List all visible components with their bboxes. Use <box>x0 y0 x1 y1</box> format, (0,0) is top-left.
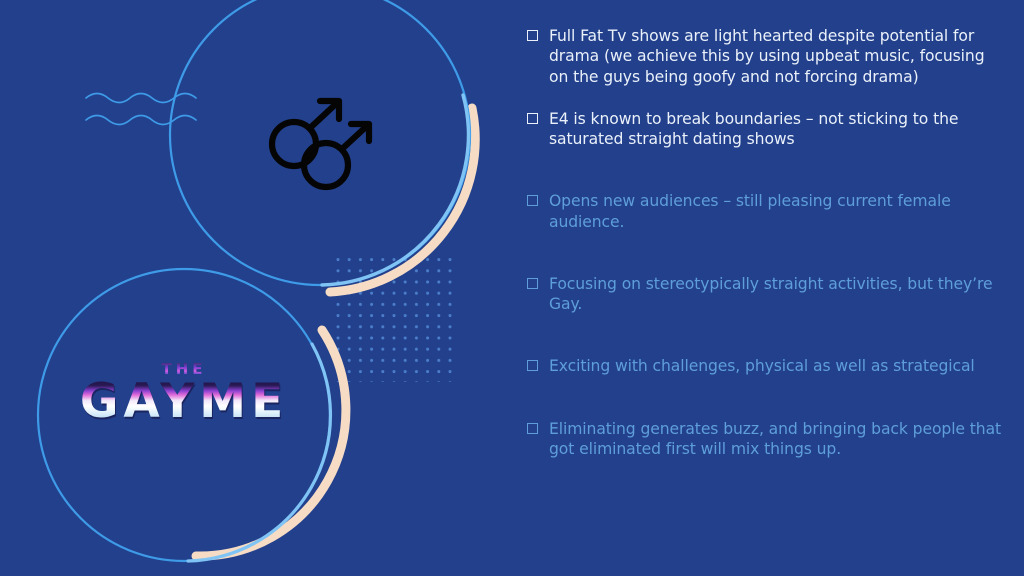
bullet-item-4: Focusing on stereotypically straight act… <box>527 274 1005 315</box>
bullet-text: Eliminating generates buzz, and bringing… <box>549 420 1001 458</box>
wavy-lines-icon <box>86 94 196 125</box>
logo-gayme-text: GAYME <box>48 378 320 425</box>
checkbox-square-icon <box>527 195 538 206</box>
bullet-item-3: Opens new audiences – still pleasing cur… <box>527 191 1005 232</box>
bullet-item-6: Eliminating generates buzz, and bringing… <box>527 419 1005 460</box>
checkbox-square-icon <box>527 30 538 41</box>
dot-grid-icon <box>332 258 456 382</box>
bullet-text: Full Fat Tv shows are light hearted desp… <box>549 27 985 86</box>
bullet-text: Focusing on stereotypically straight act… <box>549 275 992 313</box>
bullet-item-2: E4 is known to break boundaries – not st… <box>527 109 1005 150</box>
bullet-text: E4 is known to break boundaries – not st… <box>549 110 958 148</box>
checkbox-square-icon <box>527 423 538 434</box>
bullet-item-1: Full Fat Tv shows are light hearted desp… <box>527 26 1005 87</box>
double-male-symbol-icon <box>258 92 388 197</box>
show-logo: THE GAYME <box>48 362 320 440</box>
checkbox-square-icon <box>527 113 538 124</box>
bullet-text: Exciting with challenges, physical as we… <box>549 357 975 375</box>
bullet-text: Opens new audiences – still pleasing cur… <box>549 192 951 230</box>
checkbox-square-icon <box>527 360 538 371</box>
checkbox-square-icon <box>527 278 538 289</box>
bullet-item-5: Exciting with challenges, physical as we… <box>527 356 1005 376</box>
slide-canvas: THE GAYME Full Fat Tv shows are light he… <box>0 0 1024 576</box>
bullet-list: Full Fat Tv shows are light hearted desp… <box>527 26 1005 459</box>
